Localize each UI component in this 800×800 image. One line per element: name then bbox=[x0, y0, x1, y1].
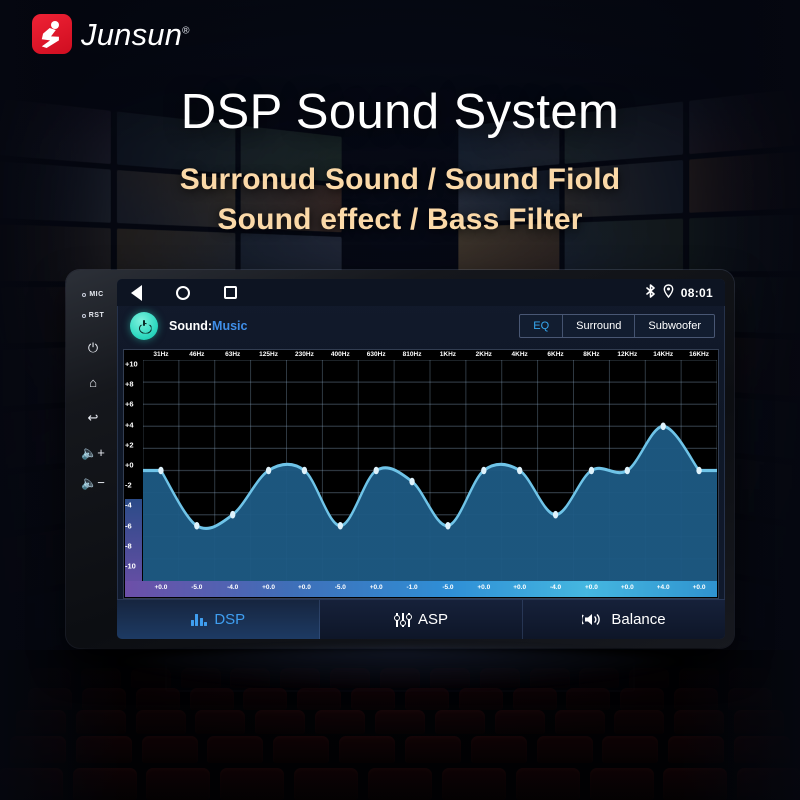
nav-recents-icon[interactable] bbox=[224, 286, 237, 299]
eq-frequency-tick: 46Hz bbox=[189, 351, 204, 358]
eq-value-tick: -5.0 bbox=[442, 584, 453, 591]
reset-button[interactable]: RST bbox=[82, 312, 105, 319]
brand-logo: Junsun® bbox=[32, 14, 190, 54]
tab-eq[interactable]: EQ bbox=[520, 315, 563, 337]
subtitle-line-2: Sound effect / Bass Filter bbox=[0, 203, 800, 237]
eq-value-tick: +0.0 bbox=[513, 584, 526, 591]
power-icon bbox=[139, 321, 150, 332]
eq-y-tick: -2 bbox=[125, 481, 132, 490]
eq-value-tick: +0.0 bbox=[585, 584, 598, 591]
eq-frequency-tick: 125Hz bbox=[259, 351, 278, 358]
eq-frequency-labels: 31Hz46Hz63Hz125Hz230Hz400Hz630Hz810Hz1KH… bbox=[143, 351, 717, 361]
status-indicators: 08:01 bbox=[645, 284, 713, 301]
eq-y-tick: +8 bbox=[125, 380, 134, 389]
device-side-buttons: MIC RST ⏻ ⌂ ↩ 🔈+ 🔈− bbox=[74, 279, 112, 639]
mic-label: MIC bbox=[89, 291, 103, 298]
sound-prefix: Sound: bbox=[169, 319, 212, 333]
eq-y-tick: +6 bbox=[125, 400, 134, 409]
mic-button[interactable]: MIC bbox=[82, 291, 103, 298]
eq-y-tick: -4 bbox=[125, 501, 132, 510]
page-title: DSP Sound System bbox=[0, 84, 800, 140]
eq-value-tick: +0.0 bbox=[298, 584, 311, 591]
android-status-bar: 08:01 bbox=[117, 279, 725, 306]
back-button[interactable]: ↩ bbox=[88, 411, 99, 424]
sliders-icon bbox=[394, 613, 411, 627]
eq-frequency-tick: 63Hz bbox=[225, 351, 240, 358]
eq-value-tick: -4.0 bbox=[227, 584, 238, 591]
reset-label: RST bbox=[89, 312, 105, 319]
eq-y-tick: +0 bbox=[125, 461, 134, 470]
android-nav-buttons bbox=[131, 285, 237, 301]
eq-y-tick: -8 bbox=[125, 541, 132, 550]
equalizer-chart[interactable]: +10+8+6+4+2+0-2-4-6-8-10 31Hz46Hz63Hz125… bbox=[123, 349, 719, 599]
eq-y-tick: +4 bbox=[125, 420, 134, 429]
eq-frequency-tick: 14KHz bbox=[653, 351, 673, 358]
location-pin-icon bbox=[663, 284, 674, 301]
sound-power-button[interactable] bbox=[130, 312, 158, 340]
status-clock: 08:01 bbox=[681, 286, 713, 300]
eq-frequency-tick: 16KHz bbox=[689, 351, 709, 358]
tab-asp[interactable]: ASP bbox=[320, 600, 523, 639]
device-screen: 08:01 Sound:Music EQ Surround Subwoofer … bbox=[117, 279, 725, 639]
eq-frequency-tick: 4KHz bbox=[512, 351, 528, 358]
eq-frequency-tick: 1KHz bbox=[440, 351, 456, 358]
power-button[interactable]: ⏻ bbox=[88, 341, 98, 354]
eq-value-tick: +4.0 bbox=[657, 584, 670, 591]
eq-y-tick: -6 bbox=[125, 521, 132, 530]
tab-dsp[interactable]: DSP bbox=[117, 600, 320, 639]
car-head-unit: MIC RST ⏻ ⌂ ↩ 🔈+ 🔈− bbox=[66, 270, 734, 648]
eq-frequency-tick: 31Hz bbox=[153, 351, 168, 358]
home-button[interactable]: ⌂ bbox=[89, 376, 97, 389]
sound-source-value: Music bbox=[212, 319, 247, 333]
reset-pinhole-icon bbox=[82, 314, 86, 318]
equalizer-panel: +10+8+6+4+2+0-2-4-6-8-10 31Hz46Hz63Hz125… bbox=[117, 346, 725, 599]
bluetooth-icon bbox=[645, 284, 656, 301]
eq-frequency-tick: 400Hz bbox=[331, 351, 350, 358]
tab-balance-label: Balance bbox=[611, 611, 665, 628]
subtitle-line-1: Surronud Sound / Sound Fiold bbox=[0, 163, 800, 197]
bottom-tab-bar: DSP ASP Balance bbox=[117, 599, 725, 639]
nav-home-icon[interactable] bbox=[176, 286, 190, 300]
eq-value-tick: +0.0 bbox=[693, 584, 706, 591]
eq-value-tick: -5.0 bbox=[191, 584, 202, 591]
eq-y-tick: -10 bbox=[125, 562, 136, 571]
eq-value-tick: -5.0 bbox=[335, 584, 346, 591]
tab-subwoofer[interactable]: Subwoofer bbox=[635, 315, 714, 337]
junsun-mark-icon bbox=[32, 14, 72, 54]
volume-down-button[interactable]: 🔈− bbox=[81, 476, 105, 489]
mic-pinhole-icon bbox=[82, 293, 86, 297]
eq-frequency-tick: 810Hz bbox=[403, 351, 422, 358]
eq-frequency-tick: 8KHz bbox=[583, 351, 599, 358]
eq-frequency-tick: 6KHz bbox=[547, 351, 563, 358]
eq-frequency-tick: 230Hz bbox=[295, 351, 314, 358]
nav-back-icon[interactable] bbox=[131, 285, 142, 301]
eq-value-labels: +0.0-5.0-4.0+0.0+0.0-5.0+0.0-1.0-5.0+0.0… bbox=[143, 584, 717, 595]
volume-up-button[interactable]: 🔈+ bbox=[81, 446, 105, 459]
eq-value-tick: +0.0 bbox=[262, 584, 275, 591]
eq-frequency-tick: 630Hz bbox=[367, 351, 386, 358]
eq-y-tick: +2 bbox=[125, 440, 134, 449]
sound-source-label: Sound:Music bbox=[169, 319, 247, 333]
eq-value-tick: +0.0 bbox=[155, 584, 168, 591]
eq-y-axis-labels: +10+8+6+4+2+0-2-4-6-8-10 bbox=[124, 350, 142, 580]
tab-asp-label: ASP bbox=[418, 611, 448, 628]
tab-balance[interactable]: Balance bbox=[523, 600, 725, 639]
eq-value-tick: +0.0 bbox=[477, 584, 490, 591]
speaker-waves-icon bbox=[582, 612, 604, 627]
eq-value-tick: +0.0 bbox=[370, 584, 383, 591]
registered-mark: ® bbox=[182, 25, 190, 36]
eq-value-tick: -1.0 bbox=[406, 584, 417, 591]
brand-name-text: Junsun bbox=[81, 17, 182, 52]
eq-frequency-tick: 12KHz bbox=[617, 351, 637, 358]
eq-value-tick: -4.0 bbox=[550, 584, 561, 591]
equalizer-bars-icon bbox=[191, 613, 208, 626]
eq-frequency-tick: 2KHz bbox=[476, 351, 492, 358]
eq-curve-area[interactable] bbox=[143, 360, 717, 581]
tab-dsp-label: DSP bbox=[214, 611, 245, 628]
eq-value-tick: +0.0 bbox=[621, 584, 634, 591]
brand-name: Junsun® bbox=[81, 19, 190, 50]
tab-surround[interactable]: Surround bbox=[563, 315, 635, 337]
eq-y-tick: +10 bbox=[125, 359, 138, 368]
sound-source-bar: Sound:Music EQ Surround Subwoofer bbox=[117, 306, 725, 346]
sound-mode-tabs: EQ Surround Subwoofer bbox=[519, 314, 715, 338]
